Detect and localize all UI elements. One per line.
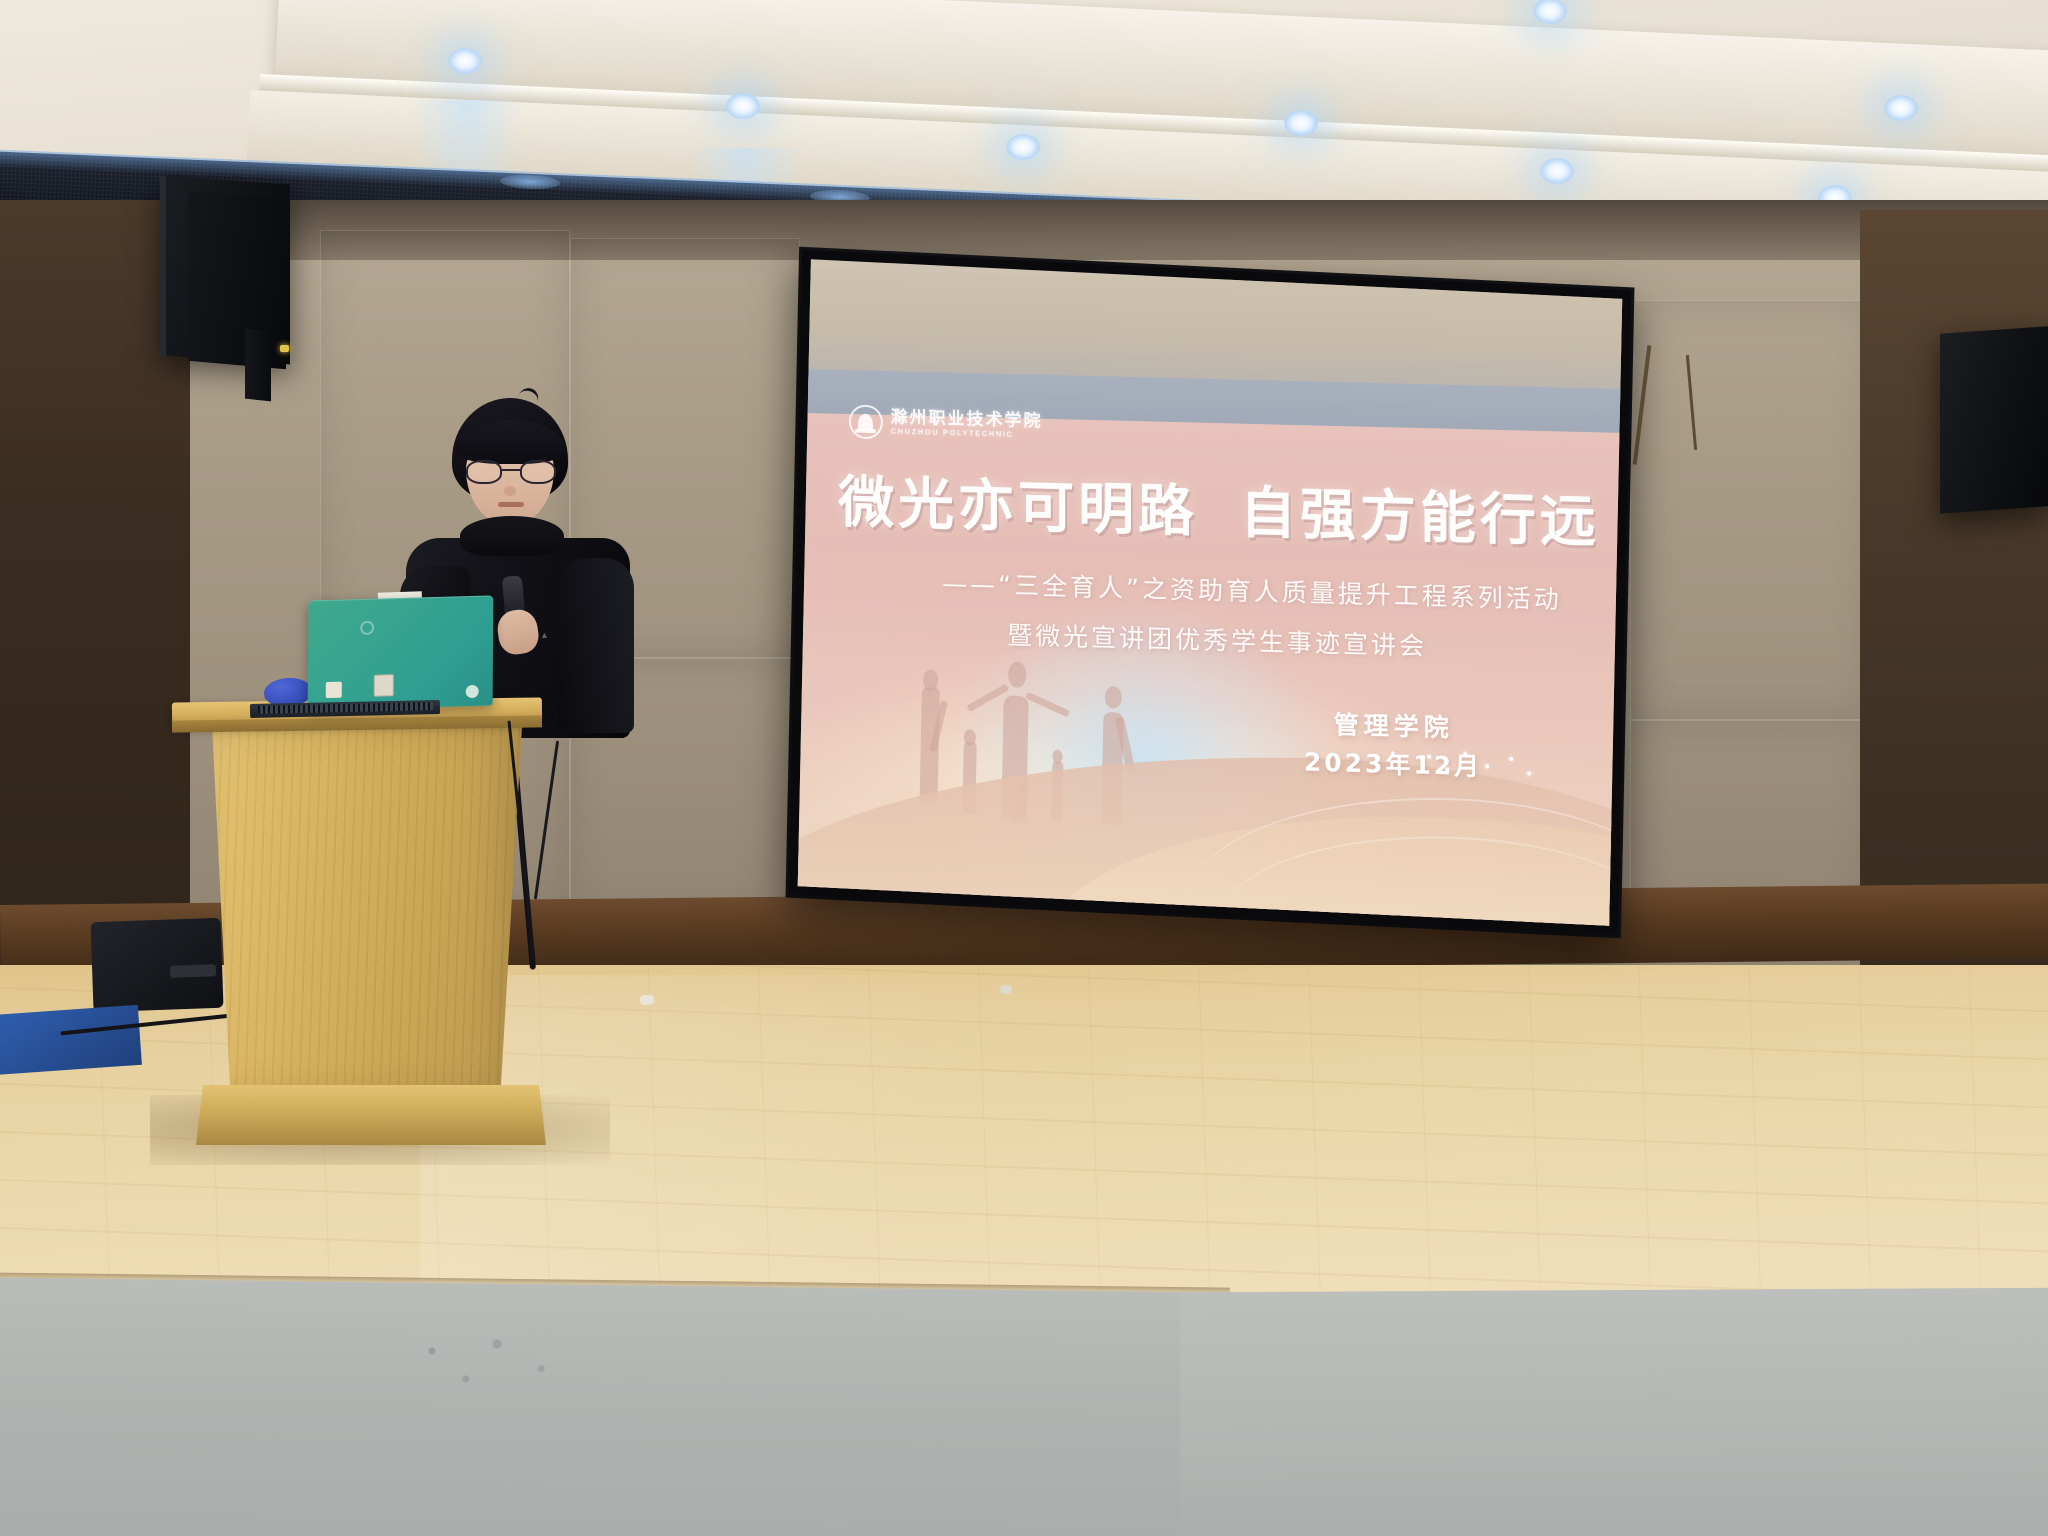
presenter-hood-collar (460, 516, 564, 556)
equipment-case-handle (170, 964, 216, 978)
presenter-right-arm (558, 558, 634, 733)
concrete-apron-right (1179, 1288, 2048, 1536)
blue-floor-mat (0, 1005, 142, 1075)
wall-upper-shadow (0, 200, 2048, 260)
laptop-sticker-1 (326, 682, 342, 698)
projection-screen: 滁州职业技术学院 CHUZHOU POLYTECHNIC 微光亦可明路 自强方能… (789, 250, 1632, 935)
downlight-front-4 (1284, 110, 1318, 136)
concrete-apron-left (0, 1277, 1222, 1536)
slide-sparkles (1423, 749, 1543, 792)
teal-laptop-lid[interactable] (308, 595, 494, 710)
slide-text-layer: 滁州职业技术学院 CHUZHOU POLYTECHNIC 微光亦可明路 自强方能… (804, 268, 1617, 917)
jacket-chest-logo: ▲ (540, 630, 550, 641)
slide-subtitle-1: ——“三全育人”之资助育人质量提升工程系列活动 (942, 564, 1562, 616)
downlight-front-1 (448, 48, 482, 74)
laptop-corner-dot (466, 685, 479, 698)
slide-headline: 微光亦可明路 自强方能行远 (838, 457, 1593, 558)
downlight-front-3 (1006, 134, 1040, 160)
projected-slide: 滁州职业技术学院 CHUZHOU POLYTECHNIC 微光亦可明路 自强方能… (798, 259, 1622, 926)
left-pa-speaker-bracket (245, 329, 271, 402)
podium-wood-grain (212, 726, 522, 1096)
laptop-sticker-2 (374, 674, 394, 697)
floor-debris-2 (1000, 985, 1012, 994)
glasses-bridge (502, 469, 520, 471)
presenter-nose (504, 486, 516, 496)
presenter-mouth (498, 502, 524, 507)
bell-glyph (858, 413, 873, 429)
presenter-glasses-icon (466, 460, 556, 484)
downlight-front-2 (726, 93, 760, 119)
floor-debris-1 (640, 995, 654, 1005)
glasses-right-lens (520, 460, 556, 484)
bell-logo-icon (849, 404, 883, 439)
presentation-scene: 滁州职业技术学院 CHUZHOU POLYTECHNIC 微光亦可明路 自强方能… (0, 0, 2048, 1536)
left-pa-speaker-grille (188, 191, 286, 370)
downlight-back-2 (1884, 95, 1918, 121)
podium-base (196, 1085, 546, 1145)
right-pa-speaker (1940, 326, 2048, 514)
headline-part-1: 微光亦可明路 (838, 457, 1198, 547)
school-logo: 滁州职业技术学院 CHUZHOU POLYTECHNIC (849, 404, 1043, 443)
slide-organizer: 管理学院 (1334, 706, 1454, 745)
concrete-scuff-marks (380, 1330, 640, 1400)
headline-part-2: 自强方能行远 (1240, 468, 1600, 558)
speaker-power-led (280, 345, 289, 352)
slide-subtitle-2: 暨微光宣讲团优秀学生事迹宣讲会 (1007, 615, 1427, 662)
laptop-brand-icon (360, 621, 374, 635)
wall-panel-5 (1630, 300, 1870, 720)
downlight-front-5 (1540, 158, 1574, 184)
glasses-left-lens (466, 460, 502, 484)
